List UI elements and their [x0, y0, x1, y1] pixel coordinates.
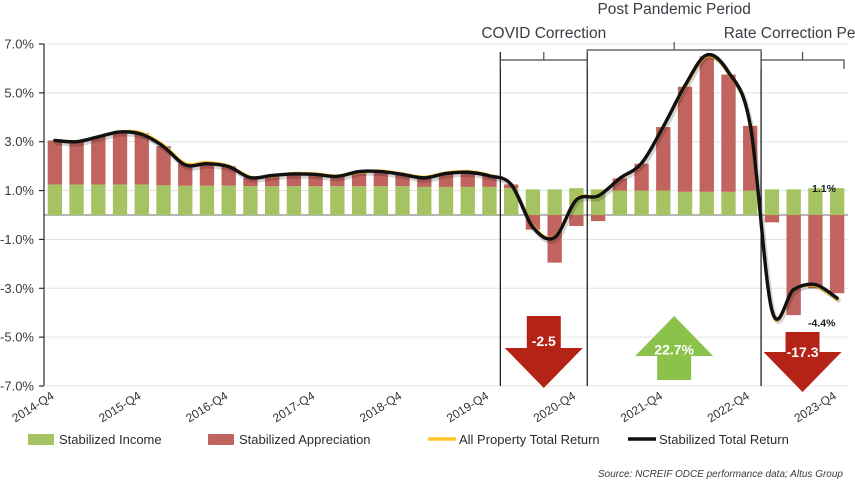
- period-title-post-pandemic: Post Pandemic Period: [597, 1, 750, 18]
- bar-stabilized-income: [547, 189, 561, 215]
- bar-stabilized-income: [439, 187, 453, 215]
- bar-stabilized-appreciation: [69, 142, 83, 185]
- callout-arrow-covid-label: -2.5: [532, 333, 556, 349]
- bar-stabilized-income: [69, 184, 83, 215]
- bar-stabilized-income: [308, 186, 322, 215]
- x-axis-tick-label: 2018-Q4: [357, 389, 404, 426]
- y-axis-tick-label: -1.0%: [0, 232, 34, 247]
- legend-swatch-bar: [208, 434, 234, 445]
- chart-svg: 7.0%5.0%3.0%1.0%-1.0%-3.0%-5.0%-7.0%2014…: [0, 0, 855, 495]
- bar-stabilized-income: [461, 187, 475, 215]
- x-axis-tick-label: 2017-Q4: [270, 388, 317, 425]
- y-axis-tick-label: 7.0%: [4, 37, 34, 52]
- y-axis-tick-label: -7.0%: [0, 379, 34, 394]
- bar-stabilized-income: [634, 191, 648, 215]
- bar-stabilized-income: [656, 191, 670, 215]
- legend-label: Stabilized Total Return: [659, 432, 789, 447]
- legend-label: Stabilized Appreciation: [239, 432, 371, 447]
- period-bracket-rate-correction: [761, 60, 844, 69]
- x-axis-tick-label: 2015-Q4: [96, 388, 143, 425]
- bar-stabilized-appreciation: [91, 137, 105, 185]
- period-bracket-post-pandemic: [587, 50, 761, 59]
- bar-stabilized-appreciation: [135, 133, 149, 184]
- bar-stabilized-appreciation: [48, 140, 62, 184]
- bar-stabilized-income: [287, 186, 301, 215]
- period-title-covid: COVID Correction: [481, 25, 606, 42]
- legend-label: Stabilized Income: [59, 432, 162, 447]
- legend-label: All Property Total Return: [459, 432, 600, 447]
- bar-stabilized-appreciation: [113, 132, 127, 185]
- bar-stabilized-income: [330, 186, 344, 215]
- legend-item-1[interactable]: Stabilized Appreciation: [208, 432, 371, 447]
- callout-arrow-rate-correction-label: -17.3: [787, 344, 819, 360]
- x-axis-tick-label: 2020-Q4: [531, 389, 578, 426]
- legend-item-2[interactable]: All Property Total Return: [428, 432, 600, 447]
- point-label-total-return: -4.4%: [808, 317, 836, 329]
- bar-stabilized-income: [721, 192, 735, 215]
- x-axis-tick-label: 2014-Q4: [9, 388, 56, 425]
- bar-stabilized-income: [374, 186, 388, 215]
- point-label-income: 1.1%: [812, 183, 837, 195]
- callout-arrow-covid: -2.5: [505, 316, 583, 388]
- bar-stabilized-appreciation: [830, 215, 844, 293]
- bar-stabilized-income: [417, 187, 431, 215]
- bar-stabilized-income: [48, 184, 62, 215]
- bar-stabilized-income: [156, 185, 170, 215]
- bar-stabilized-appreciation: [721, 75, 735, 192]
- x-axis-tick-label: 2019-Q4: [444, 389, 491, 426]
- bar-stabilized-income: [135, 184, 149, 215]
- bar-stabilized-appreciation: [765, 215, 779, 222]
- plot-area: 7.0%5.0%3.0%1.0%-1.0%-3.0%-5.0%-7.0%2014…: [0, 37, 848, 426]
- callout-arrow-post-pandemic-label: 22.7%: [654, 341, 694, 357]
- bar-stabilized-income: [178, 186, 192, 215]
- bar-stabilized-income: [613, 191, 627, 215]
- bar-stabilized-income: [787, 189, 801, 215]
- bar-stabilized-income: [222, 186, 236, 215]
- bar-stabilized-income: [765, 189, 779, 215]
- legend-item-3[interactable]: Stabilized Total Return: [628, 432, 789, 447]
- x-axis-tick-label: 2022-Q4: [705, 389, 752, 426]
- bar-stabilized-income: [113, 184, 127, 215]
- chart-container: 7.0%5.0%3.0%1.0%-1.0%-3.0%-5.0%-7.0%2014…: [0, 0, 855, 495]
- bar-stabilized-income: [352, 186, 366, 215]
- x-axis-tick-label: 2021-Q4: [618, 389, 665, 426]
- bar-stabilized-income: [243, 186, 257, 215]
- callout-arrow-rate-correction: -17.3: [764, 332, 842, 392]
- bar-stabilized-income: [700, 192, 714, 215]
- legend-swatch-bar: [28, 434, 54, 445]
- source-note: Source: NCREIF ODCE performance data; Al…: [598, 469, 844, 480]
- y-axis-tick-label: 1.0%: [4, 183, 34, 198]
- y-axis-tick-label: 3.0%: [4, 134, 34, 149]
- bar-stabilized-income: [395, 186, 409, 215]
- bars-group: [48, 56, 845, 315]
- callout-arrow-post-pandemic: 22.7%: [635, 316, 713, 380]
- callout-arrow-rate-correction-shape: [764, 332, 842, 392]
- y-axis-tick-label: 5.0%: [4, 85, 34, 100]
- y-axis-tick-label: -5.0%: [0, 330, 34, 345]
- bar-stabilized-income: [91, 184, 105, 215]
- legend-item-0[interactable]: Stabilized Income: [28, 432, 162, 447]
- bar-stabilized-appreciation: [700, 56, 714, 192]
- bar-stabilized-income: [482, 187, 496, 215]
- legend: Stabilized IncomeStabilized Appreciation…: [28, 432, 789, 447]
- bar-stabilized-income: [526, 189, 540, 215]
- x-axis-tick-label: 2023-Q4: [792, 389, 839, 426]
- period-bracket-covid: [500, 60, 587, 69]
- bar-stabilized-income: [678, 192, 692, 215]
- bar-stabilized-appreciation: [591, 215, 605, 221]
- callout-arrow-covid-shape: [505, 316, 583, 388]
- bar-stabilized-appreciation: [808, 215, 822, 288]
- x-axis-tick-label: 2016-Q4: [183, 388, 230, 425]
- y-axis-tick-label: -3.0%: [0, 281, 34, 296]
- bar-stabilized-income: [265, 186, 279, 215]
- bar-stabilized-income: [743, 191, 757, 215]
- bar-stabilized-income: [200, 186, 214, 215]
- period-title-rate-correction: Rate Correction Period: [724, 25, 855, 42]
